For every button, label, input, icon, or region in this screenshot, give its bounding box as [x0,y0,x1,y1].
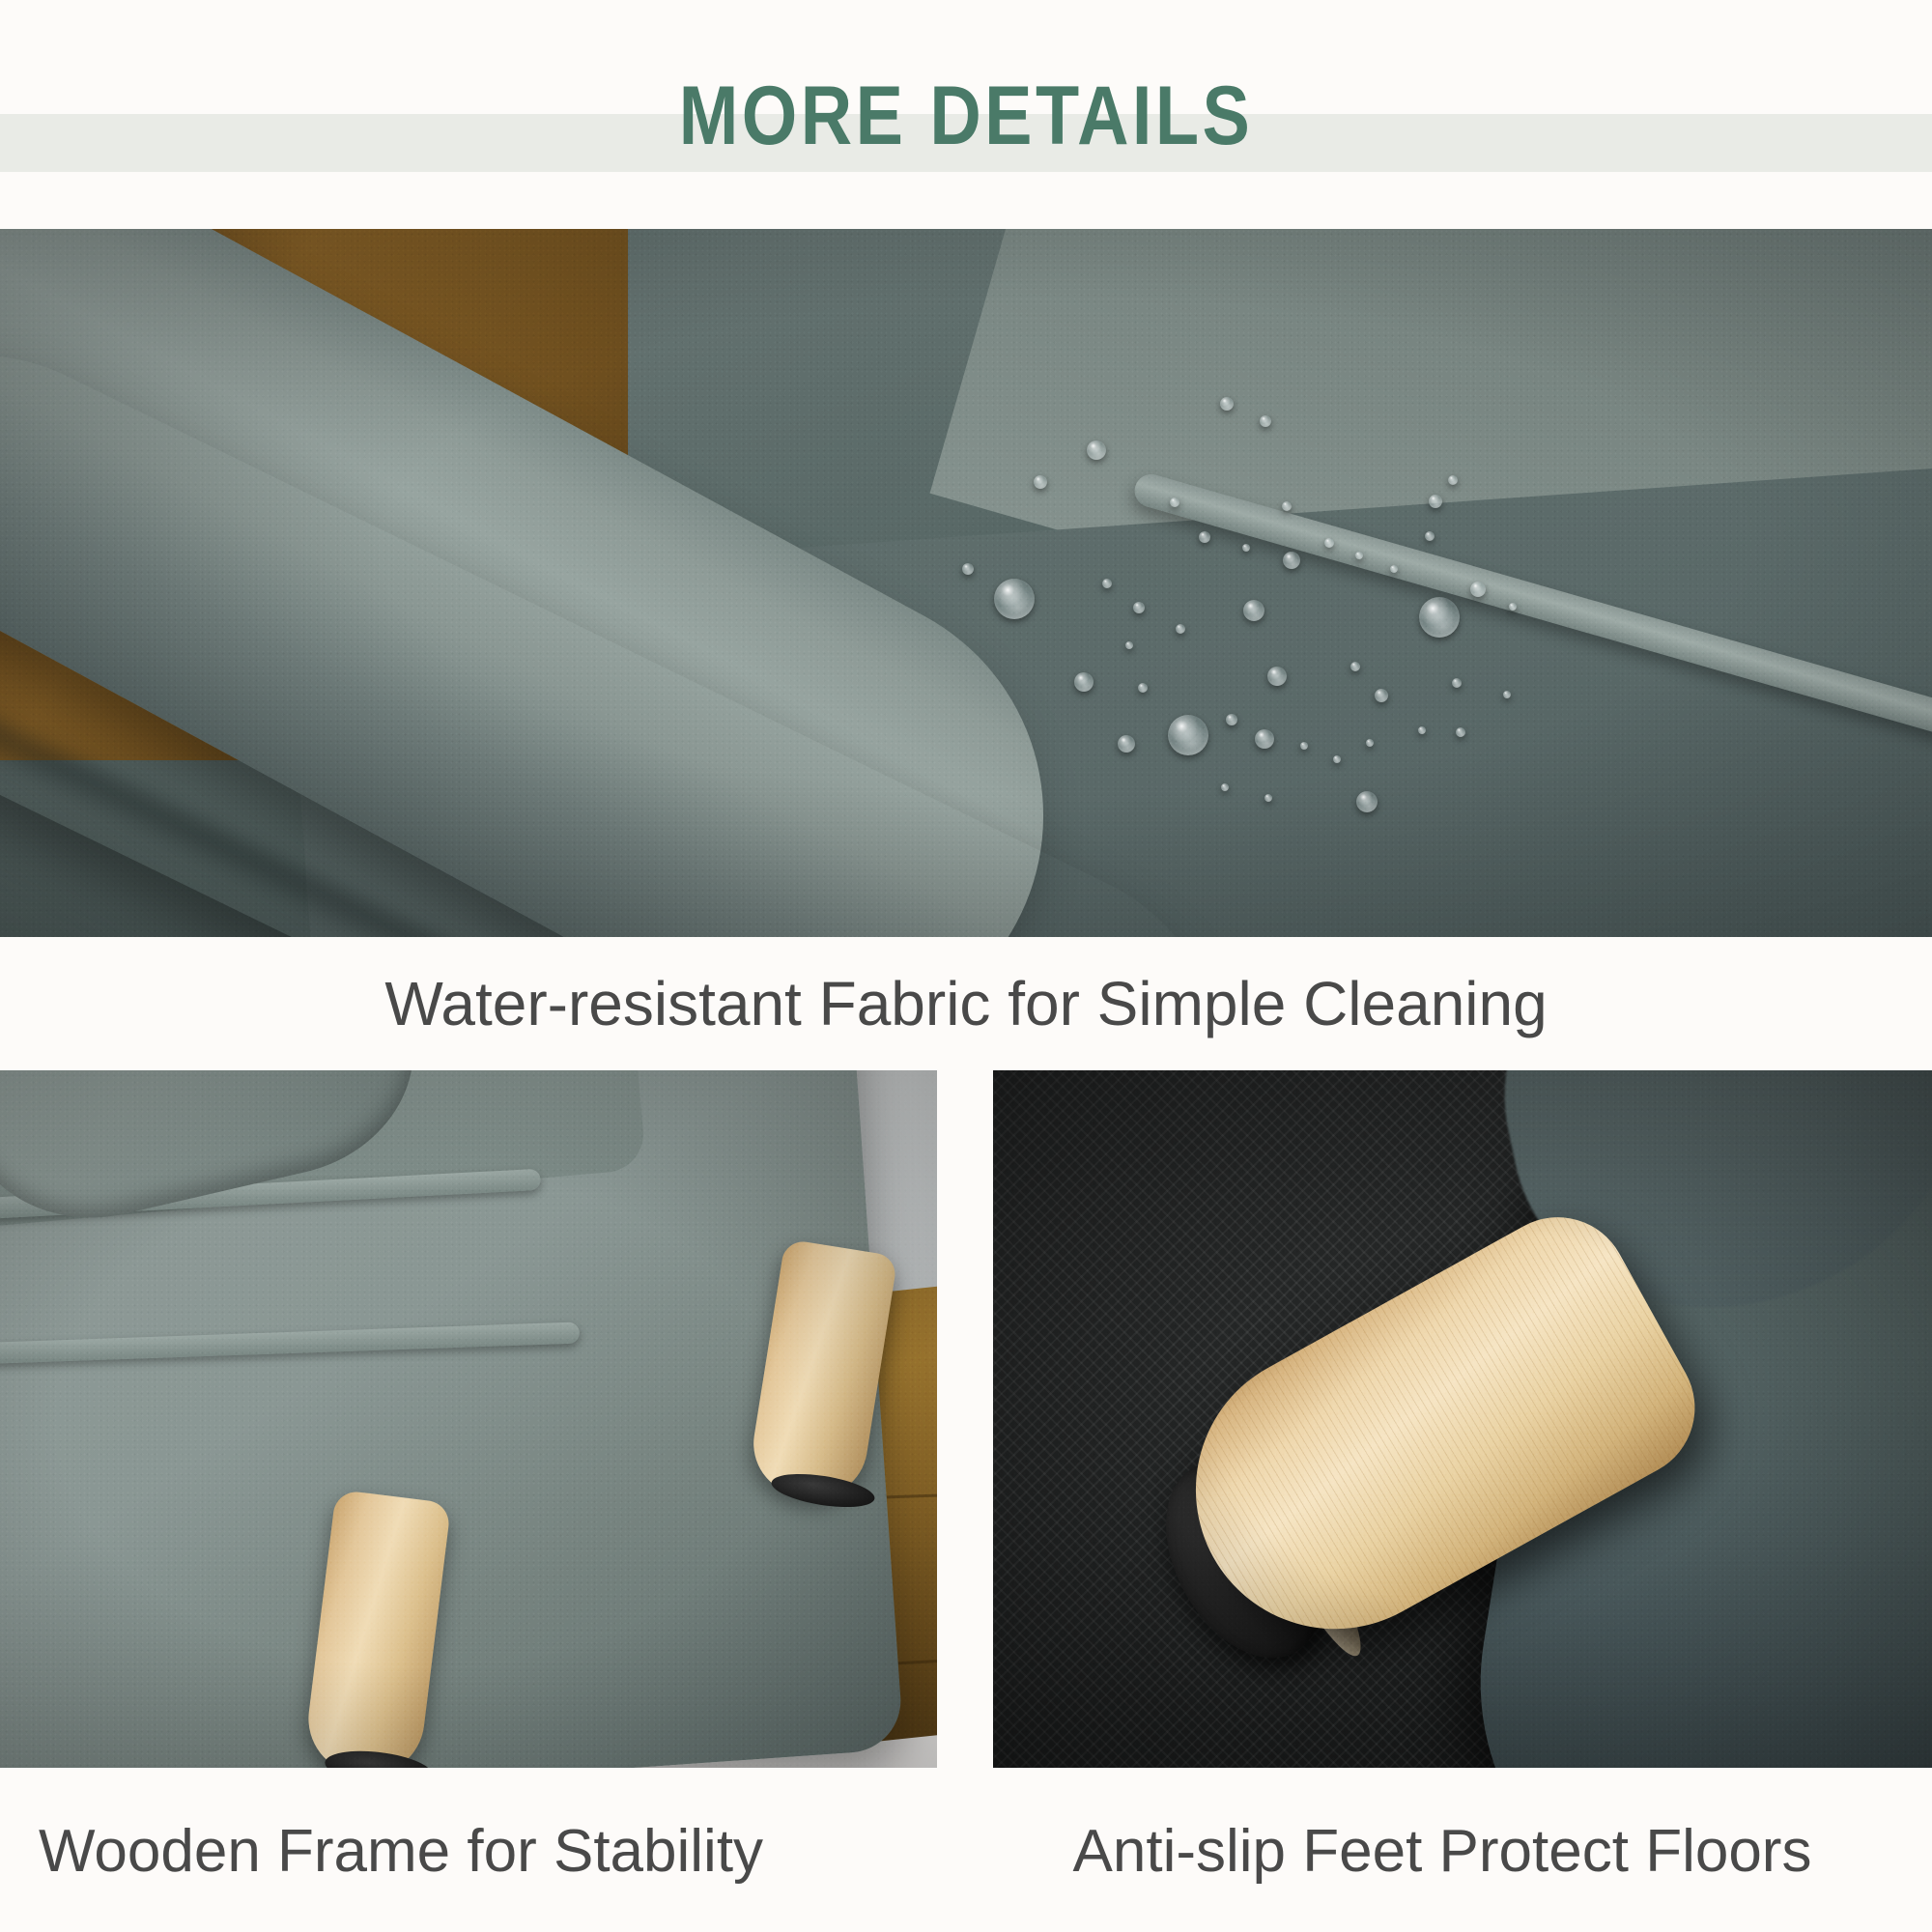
water-droplet [1133,602,1145,613]
water-droplet [1102,579,1112,588]
water-droplet [1350,662,1360,671]
water-droplet [1255,729,1274,749]
water-droplet [1264,794,1272,802]
water-droplet [1260,415,1271,427]
water-droplet [1425,531,1435,541]
water-droplet [1456,727,1465,737]
feature-image-anti-slip-feet [993,1070,1932,1768]
water-droplet [1509,603,1517,611]
caption-anti-slip-feet: Anti-slip Feet Protect Floors [993,1770,1891,1932]
water-droplet [1243,600,1264,621]
water-droplet [1199,531,1210,543]
water-droplet [1356,791,1378,812]
feature-image-wooden-frame [0,1070,937,1768]
water-droplet [1125,641,1133,649]
water-droplet [1300,742,1308,750]
water-droplet [1168,715,1208,755]
water-droplet [1226,714,1237,725]
water-droplet [1176,624,1185,634]
water-droplet [1324,538,1334,548]
water-droplet [1267,667,1287,686]
water-droplet [1220,397,1234,411]
water-droplet [1375,689,1388,702]
water-droplet [1419,597,1460,638]
water-droplet [1221,783,1229,791]
feature-image-water-resistant [0,229,1932,937]
water-droplet [1503,691,1511,698]
water-droplet [1470,582,1486,597]
water-droplet [1366,739,1374,747]
water-droplet [1138,683,1148,693]
water-droplet [1074,672,1094,692]
water-droplet [994,579,1035,619]
water-droplet [962,563,974,575]
water-droplet [1087,440,1106,460]
water-droplet [1118,735,1135,753]
water-droplet [1355,552,1363,559]
caption-water-resistant: Water-resistant Fabric for Simple Cleani… [0,937,1932,1070]
water-droplet [1282,501,1292,511]
water-droplet [1452,678,1462,688]
water-droplet [1283,552,1300,569]
page-title: MORE DETAILS [135,58,1797,174]
water-droplet [1418,726,1426,734]
water-droplet [1242,544,1250,552]
water-droplet [1429,495,1442,508]
water-droplet [1034,475,1047,489]
water-droplet [1170,497,1179,507]
water-droplet [1333,755,1341,763]
page-header: MORE DETAILS [0,0,1932,229]
water-droplet [1390,565,1398,573]
caption-wooden-frame: Wooden Frame for Stability [39,1770,937,1932]
water-droplet [1448,475,1458,485]
